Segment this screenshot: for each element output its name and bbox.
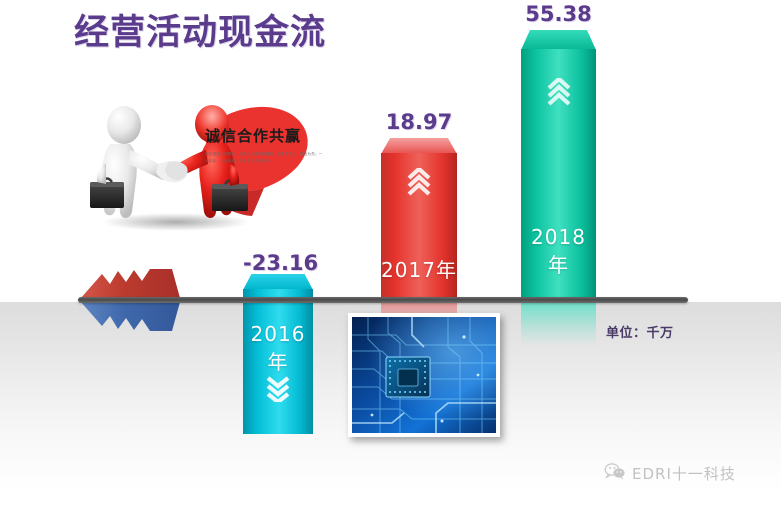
handshake-illustration bbox=[84, 104, 329, 232]
bar-2018[interactable]: 55.38 2018年 bbox=[521, 30, 596, 300]
bar-value-2016: -23.16 bbox=[243, 251, 313, 275]
bar-category-2017: 2017年 bbox=[381, 254, 457, 283]
chevron-up-triple-icon bbox=[404, 168, 434, 203]
circuit-board-inner bbox=[352, 317, 496, 433]
chevron-up-triple-icon bbox=[544, 78, 574, 113]
bar-category-2018: 2018年 bbox=[521, 225, 596, 278]
page-title: 经营活动现金流 bbox=[74, 4, 326, 55]
handshake-subtext: 诚信是做人的根本，也是立身做事的基础，做事先做人，诚信为先；一分耕耘，一分收获，… bbox=[205, 151, 325, 165]
slide-canvas: 经营活动现金流 bbox=[0, 0, 781, 507]
bar-value-2017: 18.97 bbox=[381, 110, 457, 134]
chevron-down-triple-icon bbox=[263, 372, 293, 407]
bar-cap-2016 bbox=[243, 274, 313, 290]
baseline-axis bbox=[78, 297, 688, 303]
wechat-icon bbox=[604, 462, 626, 485]
bar-cap-2018 bbox=[521, 30, 596, 50]
bar-category-2016: 2016年 bbox=[243, 322, 313, 375]
bar-2017[interactable]: 18.97 2017年 bbox=[381, 138, 457, 300]
watermark: EDRI十一科技 bbox=[604, 462, 736, 485]
bar-reflection-2018 bbox=[521, 300, 596, 346]
bar-value-2018: 55.38 bbox=[521, 2, 596, 26]
circuit-board-image bbox=[348, 313, 500, 437]
unit-note: 单位：千万 bbox=[606, 322, 674, 341]
bar-cap-2017 bbox=[381, 138, 457, 154]
handshake-headline: 诚信合作共赢 bbox=[205, 125, 325, 146]
watermark-text: EDRI十一科技 bbox=[632, 463, 736, 484]
handshake-caption: 诚信合作共赢 诚信是做人的根本，也是立身做事的基础，做事先做人，诚信为先；一分耕… bbox=[205, 125, 325, 165]
